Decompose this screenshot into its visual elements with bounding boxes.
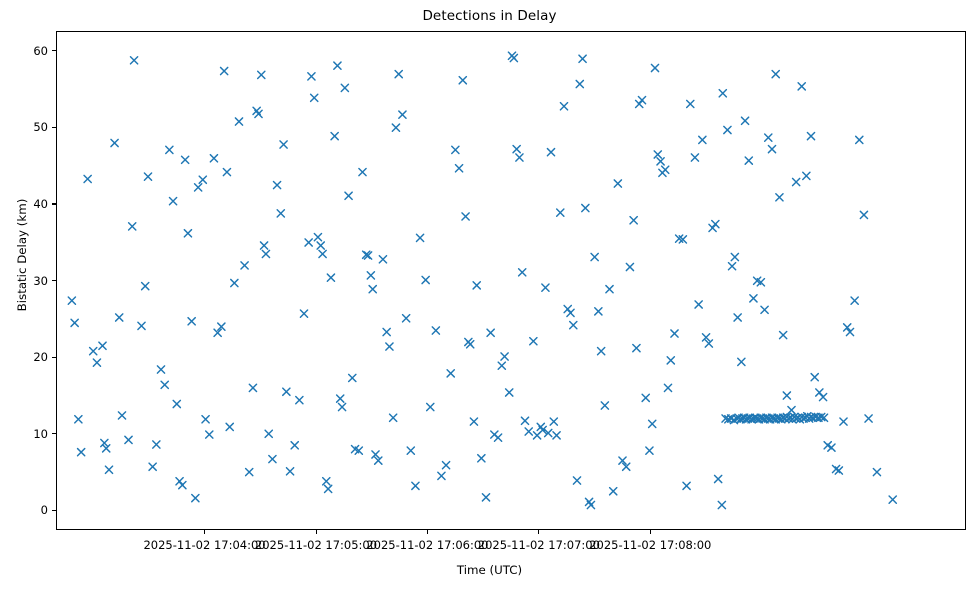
- scatter-point: [772, 70, 779, 77]
- scatter-point: [835, 467, 842, 474]
- scatter-point: [314, 234, 321, 241]
- scatter-point: [93, 359, 100, 366]
- scatter-point: [442, 462, 449, 469]
- scatter-point: [179, 481, 186, 488]
- y-tick-label: 10: [8, 428, 48, 440]
- y-tick-label: 20: [8, 351, 48, 363]
- scatter-point: [90, 348, 97, 355]
- scatter-point: [199, 176, 206, 183]
- scatter-point: [793, 178, 800, 185]
- scatter-point: [265, 430, 272, 437]
- scatter-point: [182, 156, 189, 163]
- scatter-point: [498, 362, 505, 369]
- y-axis-label: Bistatic Delay (km): [15, 145, 29, 365]
- scatter-point: [630, 217, 637, 224]
- scatter-point: [470, 418, 477, 425]
- scatter-point: [345, 192, 352, 199]
- x-tick-mark: [316, 530, 317, 534]
- scatter-point: [202, 416, 209, 423]
- scatter-point: [130, 57, 137, 64]
- scatter-point: [138, 322, 145, 329]
- x-tick-mark: [538, 530, 539, 534]
- scatter-point: [671, 330, 678, 337]
- scatter-point: [195, 184, 202, 191]
- scatter-point: [560, 103, 567, 110]
- scatter-point: [184, 230, 191, 237]
- scatter-point: [865, 415, 872, 422]
- scatter-point: [129, 223, 136, 230]
- scatter-point: [761, 306, 768, 313]
- y-tick-mark: [52, 280, 56, 281]
- scatter-point: [860, 211, 867, 218]
- scatter-point: [614, 180, 621, 187]
- x-tick-mark: [204, 530, 205, 534]
- scatter-point: [305, 239, 312, 246]
- scatter-point: [741, 117, 748, 124]
- scatter-point: [828, 444, 835, 451]
- scatter-point: [519, 269, 526, 276]
- scatter-point: [851, 297, 858, 304]
- scatter-point: [84, 175, 91, 182]
- scatter-point: [715, 475, 722, 482]
- scatter-point: [811, 374, 818, 381]
- scatter-point: [765, 134, 772, 141]
- scatter-point: [768, 145, 775, 152]
- scatter-point: [246, 468, 253, 475]
- scatter-point: [856, 136, 863, 143]
- y-tick-mark: [52, 357, 56, 358]
- scatter-point: [587, 501, 594, 508]
- x-tick-label: 2025-11-02 17:08:00: [560, 538, 740, 552]
- scatter-point: [317, 242, 324, 249]
- scatter-point: [807, 132, 814, 139]
- scatter-point: [473, 282, 480, 289]
- scatter-point: [649, 420, 656, 427]
- scatter-point: [367, 272, 374, 279]
- scatter-point: [482, 494, 489, 501]
- scatter-point: [71, 319, 78, 326]
- x-tick-mark: [650, 530, 651, 534]
- scatter-point: [455, 165, 462, 172]
- scatter-point: [308, 73, 315, 80]
- scatter-point: [325, 485, 332, 492]
- scatter-point: [99, 342, 106, 349]
- scatter-point: [231, 279, 238, 286]
- scatter-point: [662, 166, 669, 173]
- scatter-point: [570, 322, 577, 329]
- scatter-point: [459, 77, 466, 84]
- scatter-point: [467, 341, 474, 348]
- scatter-point: [783, 392, 790, 399]
- scatter-point: [369, 286, 376, 293]
- scatter-point: [724, 126, 731, 133]
- scatter-point: [452, 146, 459, 153]
- scatter-point: [111, 139, 118, 146]
- scatter-point: [606, 286, 613, 293]
- scatter-point: [390, 414, 397, 421]
- scatter-point: [223, 168, 230, 175]
- scatter-point: [395, 70, 402, 77]
- scatter-point: [407, 447, 414, 454]
- y-tick-label: 50: [8, 121, 48, 133]
- scatter-point: [487, 329, 494, 336]
- scatter-point: [819, 393, 826, 400]
- scatter-point: [525, 428, 532, 435]
- scatter-point: [638, 97, 645, 104]
- scatter-point: [595, 308, 602, 315]
- scatter-point: [75, 416, 82, 423]
- scatter-point: [349, 374, 356, 381]
- scatter-point: [105, 466, 112, 473]
- scatter-point: [728, 263, 735, 270]
- scatter-point: [169, 198, 176, 205]
- scatter-point: [889, 496, 896, 503]
- scatter-point: [68, 297, 75, 304]
- y-tick-mark: [52, 127, 56, 128]
- scatter-point: [494, 434, 501, 441]
- scatter-point: [582, 204, 589, 211]
- x-tick-mark: [427, 530, 428, 534]
- scatter-point: [188, 318, 195, 325]
- scatter-point: [432, 327, 439, 334]
- scatter-point: [269, 455, 276, 462]
- scatter-point: [633, 344, 640, 351]
- scatter-point: [718, 501, 725, 508]
- y-tick-mark: [52, 50, 56, 51]
- scatter-point: [654, 151, 661, 158]
- scatter-point: [513, 145, 520, 152]
- scatter-point: [734, 314, 741, 321]
- scatter-point: [530, 338, 537, 345]
- scatter-point: [331, 132, 338, 139]
- scatter-point: [564, 305, 571, 312]
- y-tick-label: 0: [8, 504, 48, 516]
- scatter-point: [78, 449, 85, 456]
- scatter-point: [626, 263, 633, 270]
- scatter-point: [311, 94, 318, 101]
- scatter-series: [57, 32, 966, 530]
- x-axis-label: Time (UTC): [0, 563, 979, 577]
- scatter-point: [598, 348, 605, 355]
- scatter-point: [695, 301, 702, 308]
- scatter-point: [750, 295, 757, 302]
- scatter-point: [776, 194, 783, 201]
- scatter-point: [636, 100, 643, 107]
- scatter-point: [300, 310, 307, 317]
- y-tick-label: 30: [8, 275, 48, 287]
- chart-title: Detections in Delay: [0, 8, 979, 24]
- scatter-point: [173, 400, 180, 407]
- scatter-point: [323, 478, 330, 485]
- scatter-point: [283, 388, 290, 395]
- scatter-point: [646, 447, 653, 454]
- scatter-point: [337, 395, 344, 402]
- scatter-point: [591, 253, 598, 260]
- scatter-point: [255, 110, 262, 117]
- y-tick-mark: [52, 510, 56, 511]
- y-tick-mark: [52, 203, 56, 204]
- y-tick-mark: [52, 433, 56, 434]
- scatter-point: [516, 154, 523, 161]
- scatter-point: [280, 141, 287, 148]
- scatter-point: [125, 436, 132, 443]
- scatter-point: [788, 406, 795, 413]
- scatter-point: [553, 432, 560, 439]
- scatter-point: [334, 62, 341, 69]
- plot-area: [56, 31, 966, 530]
- scatter-point: [506, 389, 513, 396]
- y-tick-label: 40: [8, 198, 48, 210]
- scatter-point: [210, 155, 217, 162]
- scatter-point: [206, 431, 213, 438]
- scatter-point: [427, 403, 434, 410]
- scatter-point: [803, 172, 810, 179]
- scatter-point: [273, 181, 280, 188]
- scatter-point: [691, 154, 698, 161]
- scatter-point: [392, 124, 399, 131]
- scatter-point: [547, 149, 554, 156]
- scatter-point: [416, 234, 423, 241]
- scatter-point: [447, 370, 454, 377]
- scatter-point: [226, 423, 233, 430]
- scatter-point: [116, 314, 123, 321]
- scatter-point: [118, 412, 125, 419]
- scatter-point: [386, 343, 393, 350]
- scatter-point: [399, 111, 406, 118]
- scatter-point: [258, 71, 265, 78]
- scatter-point: [144, 173, 151, 180]
- scatter-point: [664, 384, 671, 391]
- scatter-point: [478, 455, 485, 462]
- scatter-point: [712, 220, 719, 227]
- scatter-point: [798, 83, 805, 90]
- figure-canvas: Detections in Delay Bistatic Delay (km) …: [0, 0, 979, 590]
- scatter-point: [262, 250, 269, 257]
- scatter-point: [557, 209, 564, 216]
- scatter-point: [341, 84, 348, 91]
- scatter-point: [319, 250, 326, 257]
- scatter-point: [780, 331, 787, 338]
- scatter-point: [840, 418, 847, 425]
- scatter-point: [260, 242, 267, 249]
- scatter-point: [651, 64, 658, 71]
- scatter-point: [542, 284, 549, 291]
- scatter-point: [731, 253, 738, 260]
- scatter-point: [149, 463, 156, 470]
- y-tick-label: 60: [8, 45, 48, 57]
- scatter-point: [699, 136, 706, 143]
- scatter-point: [567, 309, 574, 316]
- scatter-point: [719, 90, 726, 97]
- scatter-point: [521, 417, 528, 424]
- scatter-point: [657, 158, 664, 165]
- scatter-point: [438, 472, 445, 479]
- scatter-point: [745, 157, 752, 164]
- scatter-point: [579, 55, 586, 62]
- scatter-point: [359, 168, 366, 175]
- scatter-point: [667, 357, 674, 364]
- scatter-point: [709, 224, 716, 231]
- scatter-point: [192, 494, 199, 501]
- scatter-point: [383, 328, 390, 335]
- scatter-point: [687, 100, 694, 107]
- scatter-point: [738, 358, 745, 365]
- scatter-point: [683, 482, 690, 489]
- scatter-point: [235, 118, 242, 125]
- scatter-point: [379, 256, 386, 263]
- scatter-point: [176, 478, 183, 485]
- scatter-point: [241, 262, 248, 269]
- scatter-point: [573, 477, 580, 484]
- scatter-point: [249, 384, 256, 391]
- scatter-point: [550, 418, 557, 425]
- scatter-point: [327, 274, 334, 281]
- scatter-point: [161, 381, 168, 388]
- scatter-point: [166, 146, 173, 153]
- scatter-point: [873, 468, 880, 475]
- scatter-point: [576, 80, 583, 87]
- scatter-point: [157, 366, 164, 373]
- scatter-point: [412, 482, 419, 489]
- scatter-point: [501, 353, 508, 360]
- scatter-point: [338, 403, 345, 410]
- scatter-point: [286, 468, 293, 475]
- scatter-point: [403, 315, 410, 322]
- scatter-point: [142, 282, 149, 289]
- scatter-point: [422, 276, 429, 283]
- scatter-point: [642, 394, 649, 401]
- scatter-point: [221, 67, 228, 74]
- scatter-point: [610, 488, 617, 495]
- scatter-point: [462, 213, 469, 220]
- scatter-point: [277, 210, 284, 217]
- scatter-point: [601, 402, 608, 409]
- scatter-point: [296, 397, 303, 404]
- scatter-point: [291, 442, 298, 449]
- scatter-point: [510, 54, 517, 61]
- scatter-point: [153, 441, 160, 448]
